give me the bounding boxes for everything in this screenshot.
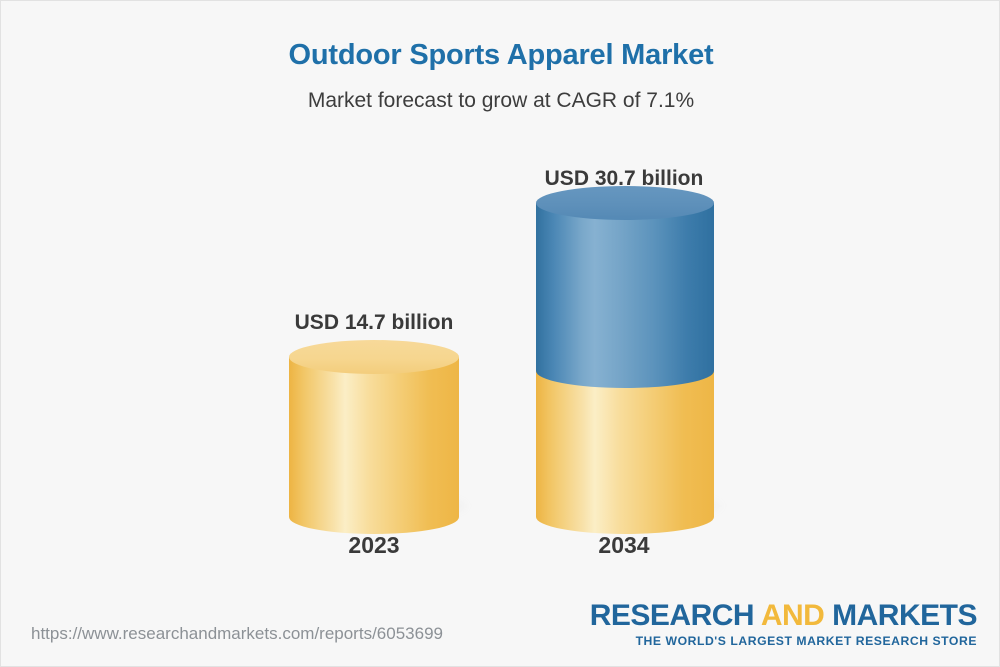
value-label-2023: USD 14.7 billion	[229, 311, 519, 335]
brand-wordmark: RESEARCH AND MARKETS	[590, 601, 977, 631]
cylinder-top-face	[289, 340, 459, 374]
source-url[interactable]: https://www.researchandmarkets.com/repor…	[31, 624, 443, 644]
infographic-canvas: Outdoor Sports Apparel Market Market for…	[0, 0, 1000, 667]
chart-subtitle: Market forecast to grow at CAGR of 7.1%	[1, 89, 1000, 113]
bar-cylinder-2023	[289, 357, 459, 517]
cylinder-segment-blue	[536, 203, 714, 371]
page-title: Outdoor Sports Apparel Market	[1, 39, 1000, 72]
cylinder-body	[536, 371, 714, 517]
cylinder-body	[289, 357, 459, 517]
category-label-2023: 2023	[229, 532, 519, 559]
brand-word-and: AND	[761, 599, 825, 632]
cylinder-top-face	[536, 186, 714, 220]
cylinder-segment-gold	[289, 357, 459, 517]
value-label-2034: USD 30.7 billion	[479, 167, 769, 191]
brand-logo[interactable]: RESEARCH AND MARKETS THE WORLD'S LARGEST…	[590, 601, 977, 648]
category-label-2034: 2034	[479, 532, 769, 559]
brand-tagline: THE WORLD'S LARGEST MARKET RESEARCH STOR…	[590, 634, 977, 648]
bar-cylinder-2034	[536, 203, 714, 517]
cylinder-body	[536, 203, 714, 371]
brand-word-research: RESEARCH	[590, 599, 754, 632]
brand-word-markets: MARKETS	[832, 599, 977, 632]
cylinder-segment-gold	[536, 371, 714, 517]
